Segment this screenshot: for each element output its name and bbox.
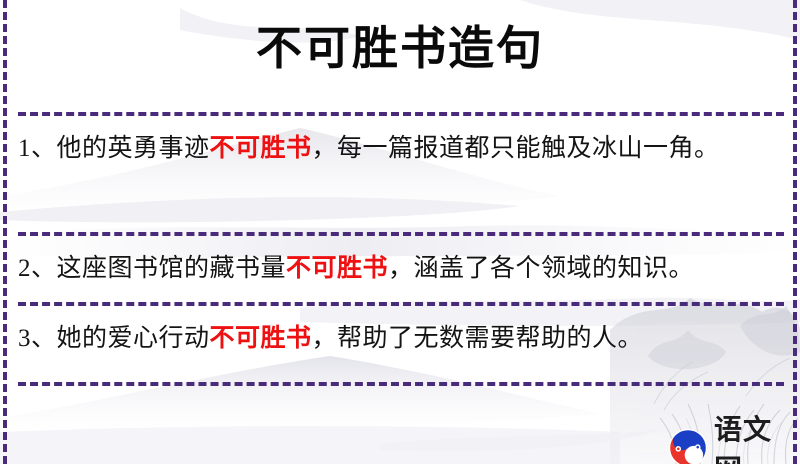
sentence-text-before-2: 这座图书馆的藏书量 (57, 255, 287, 282)
sentence-number-3: 3、 (18, 325, 57, 352)
sentence-number-2: 2、 (18, 255, 57, 282)
yinyang-fish-circle-icon (668, 428, 708, 464)
dashed-separator-4 (18, 382, 784, 386)
sentence-item-2: 2、这座图书馆的藏书量不可胜书，涵盖了各个领域的知识。 (18, 248, 778, 290)
idiom-highlight-1: 不可胜书 (210, 135, 312, 162)
sentence-number-1: 1、 (18, 135, 57, 162)
sentence-text-after-3: ，帮助了无数需要帮助的人。 (312, 325, 644, 352)
site-logo-text: 语文网 (714, 408, 800, 464)
slide-page: 不可胜书造句 1、他的英勇事迹不可胜书，每一篇报道都只能触及冰山一角。 2、这座… (0, 0, 800, 464)
dashed-separator-2 (18, 232, 784, 236)
dashed-separator-1 (18, 112, 784, 116)
sentence-text-after-2: ，涵盖了各个领域的知识。 (388, 255, 694, 282)
sentence-item-3: 3、她的爱心行动不可胜书，帮助了无数需要帮助的人。 (18, 318, 778, 360)
sentence-item-1: 1、他的英勇事迹不可胜书，每一篇报道都只能触及冰山一角。 (18, 128, 778, 170)
dashed-separator-3 (18, 302, 784, 306)
page-title: 不可胜书造句 (0, 18, 800, 80)
idiom-highlight-3: 不可胜书 (210, 325, 312, 352)
right-dashed-border (793, 0, 797, 464)
sentence-text-before-3: 她的爱心行动 (57, 325, 210, 352)
site-logo[interactable]: 语文网 (668, 408, 800, 464)
left-dashed-border (3, 0, 7, 464)
idiom-highlight-2: 不可胜书 (286, 255, 388, 282)
sentence-text-before-1: 他的英勇事迹 (57, 135, 210, 162)
sentence-text-after-1: ，每一篇报道都只能触及冰山一角。 (312, 135, 720, 162)
